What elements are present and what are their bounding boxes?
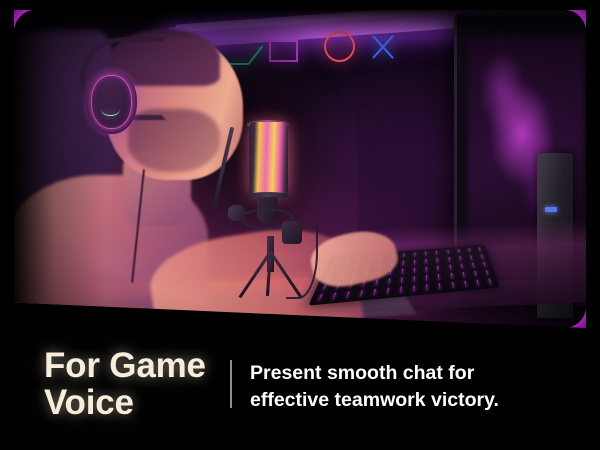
caption-block: For Game Voice Present smooth chat for e… bbox=[0, 340, 600, 450]
headline-text: For Game Voice bbox=[44, 347, 206, 422]
product-banner: For Game Voice Present smooth chat for e… bbox=[0, 0, 600, 450]
caption-divider bbox=[230, 360, 232, 408]
device-led-indicator bbox=[545, 207, 558, 212]
usb-microphone bbox=[217, 118, 326, 315]
headphone-smiley-icon bbox=[101, 102, 120, 115]
microphone-cable bbox=[286, 221, 319, 300]
product-photo bbox=[14, 10, 586, 328]
microphone-rgb-body bbox=[249, 122, 288, 195]
microphone-adjust-knob bbox=[228, 205, 245, 221]
subtext-description: Present smooth chat for effective teamwo… bbox=[250, 360, 499, 414]
